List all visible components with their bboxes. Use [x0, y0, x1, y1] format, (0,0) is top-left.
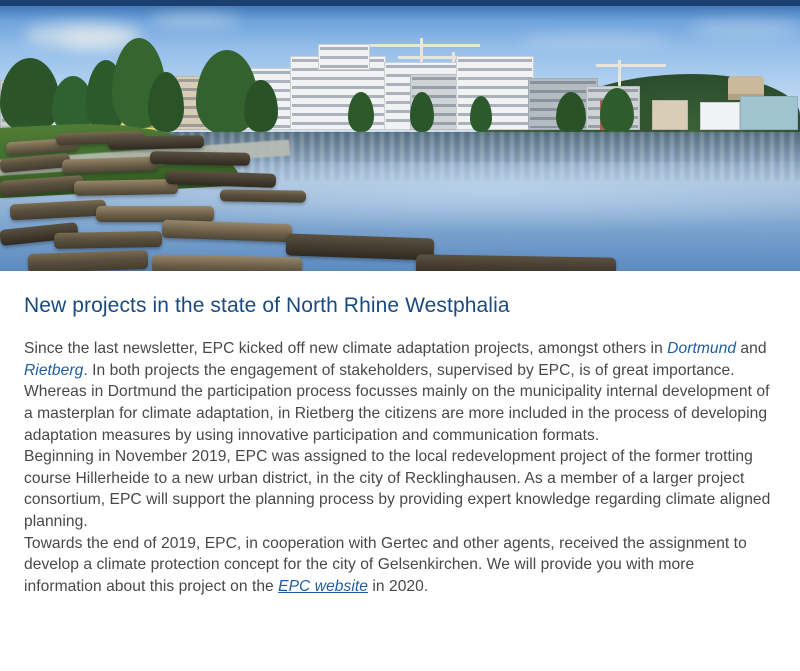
building: [318, 44, 370, 70]
building: [652, 100, 688, 130]
stepping-stone: [416, 254, 616, 271]
stepping-stone: [150, 151, 250, 166]
building: [740, 96, 798, 130]
paragraph-3-text-part-2: in 2020.: [368, 578, 428, 595]
cloud: [150, 12, 240, 28]
cloud: [690, 20, 800, 38]
hero-top-band: [0, 0, 800, 6]
paragraph-1: Since the last newsletter, EPC kicked of…: [24, 338, 776, 446]
link-rietberg[interactable]: Rietberg: [24, 362, 83, 379]
paragraph-2: Beginning in November 2019, EPC was assi…: [24, 446, 776, 532]
building: [700, 102, 740, 130]
paragraph-1-text-part-2: and: [736, 340, 767, 357]
stepping-stone: [54, 231, 162, 249]
stepping-stone: [152, 255, 302, 271]
stepping-stone: [220, 189, 306, 202]
hero-image: [0, 0, 800, 271]
cloud: [60, 30, 130, 48]
tree: [470, 96, 492, 132]
article-text: Since the last newsletter, EPC kicked of…: [24, 338, 776, 597]
lakeside-cityscape-photo: [0, 0, 800, 271]
stepping-stone: [28, 250, 149, 271]
stepping-stone: [74, 179, 178, 196]
building: [456, 56, 534, 130]
paragraph-3: Towards the end of 2019, EPC, in coopera…: [24, 533, 776, 598]
link-dortmund[interactable]: Dortmund: [667, 340, 736, 357]
paragraph-1-text-part-1: Since the last newsletter, EPC kicked of…: [24, 340, 667, 357]
article-body: New projects in the state of North Rhine…: [0, 271, 800, 597]
stepping-stone: [96, 206, 214, 222]
page-title: New projects in the state of North Rhine…: [24, 293, 776, 318]
newsletter-page: New projects in the state of North Rhine…: [0, 0, 800, 671]
link-epc-website[interactable]: EPC website: [278, 578, 368, 595]
construction-crane-jib: [596, 64, 666, 67]
stepping-stone: [108, 135, 204, 150]
paragraph-1-text-part-3: . In both projects the engagement of sta…: [24, 362, 769, 444]
cloud: [520, 34, 670, 48]
